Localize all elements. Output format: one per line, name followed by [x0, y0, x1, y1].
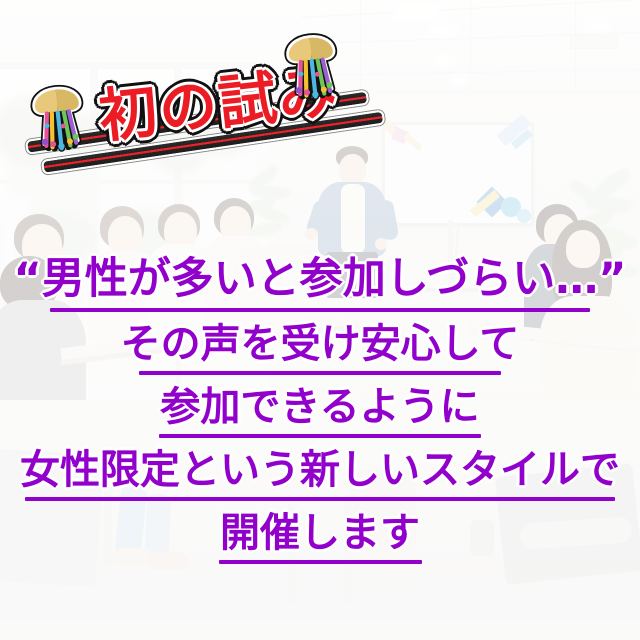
message-line-text: 女性限定という新しいスタイルで: [0, 450, 640, 490]
party-popper-kusudama-icon: [277, 26, 347, 106]
message-line: 女性限定という新しいスタイルで: [0, 450, 640, 501]
message-line-text: 開催します: [0, 513, 640, 553]
message-line-underline: [25, 497, 615, 501]
message-line: “男性が多いと参加しづらい…”: [0, 258, 640, 312]
message-line-text: 参加できるように: [0, 387, 640, 427]
message-line: 参加できるように: [0, 387, 640, 438]
message-line-underline: [159, 434, 481, 438]
party-popper-kusudama-icon: [24, 77, 94, 157]
message-line-underline: [219, 560, 422, 564]
message-line-text: “男性が多いと参加しづらい…”: [0, 258, 640, 301]
message-block: “男性が多いと参加しづらい…” その声を受け安心して 参加できるように 女性限定…: [0, 258, 640, 576]
message-line-underline: [139, 371, 501, 375]
message-line: その声を受け安心して: [0, 324, 640, 375]
message-line-underline: [50, 308, 590, 312]
message-line: 開催します: [0, 513, 640, 564]
promo-banner: 初の試み: [0, 0, 640, 640]
message-line-text: その声を受け安心して: [0, 324, 640, 364]
